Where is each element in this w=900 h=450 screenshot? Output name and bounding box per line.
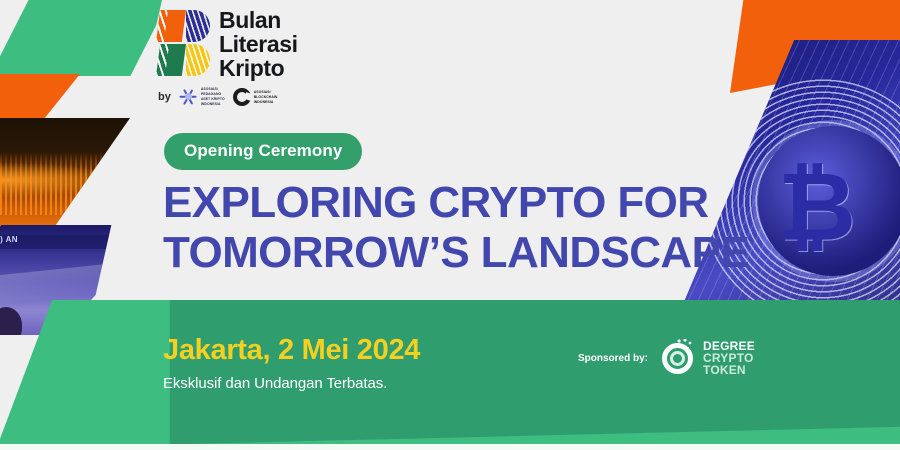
logo-stripes-yellow <box>186 44 210 76</box>
aspakrindo-line-2: PEDAGANG <box>201 92 225 96</box>
event-poster: 550 ▼ 15 (0,96%) AN ₿ <box>0 0 900 450</box>
decor-green-parallelogram-top-left <box>0 0 170 76</box>
event-note: Eksklusif dan Undangan Terbatas. <box>163 375 420 392</box>
ticker-text: 550 ▼ 15 (0,96%) AN <box>0 235 18 244</box>
aspakrindo-line-3: ASET KRIPTO <box>201 97 225 101</box>
bulan-literasi-kripto-logo-icon <box>156 8 210 80</box>
brand-logo-row: Bulan Literasi Kripto <box>156 8 298 80</box>
wordmark-line-2: Literasi <box>219 32 298 56</box>
sponsored-by-label: Sponsored by: <box>578 353 648 364</box>
opening-ceremony-badge: Opening Ceremony <box>164 133 362 170</box>
sponsor-logo-line-3: TOKEN <box>703 364 755 376</box>
degree-wordmark: DEGREE CRYPTO TOKEN <box>703 340 755 376</box>
aspakrindo-line-4: INDONESIA <box>201 102 225 106</box>
page-title: EXPLORING CRYPTO FOR TOMORROW’S LANDSCAP… <box>163 178 749 278</box>
degree-crypto-token-logo: DEGREE CRYPTO TOKEN <box>660 340 755 376</box>
ring-icon <box>233 88 251 106</box>
d-inner-ring <box>670 351 685 366</box>
degree-d-icon <box>660 340 696 376</box>
by-label: by <box>158 91 171 103</box>
chart-sparkline <box>0 153 130 215</box>
brand-logo-block: Bulan Literasi Kripto by ASOSIASI PEDAGA… <box>156 8 298 106</box>
aspakrindo-logo: ASOSIASI PEDAGANG ASET KRIPTO INDONESIA <box>179 87 225 106</box>
bitcoin-symbol-icon: ₿ <box>778 160 856 256</box>
snowflake-icon <box>179 87 198 106</box>
event-city-date: Jakarta, 2 Mei 2024 <box>163 333 420 367</box>
brand-wordmark: Bulan Literasi Kripto <box>219 8 298 80</box>
sponsor-block: Sponsored by: DEGREE CRYPTO TOKEN <box>578 340 755 376</box>
asosiasi-blockchain-indonesia-logo: ASOSIASI BLOCKCHAIN INDONESIA <box>233 88 278 106</box>
headline-line-1: EXPLORING CRYPTO FOR <box>163 178 749 228</box>
logo-stripes-blue <box>186 10 210 42</box>
decor-candlestick-chart-image <box>0 118 130 233</box>
d-dots <box>677 339 693 351</box>
aspakrindo-microtext: ASOSIASI PEDAGANG ASET KRIPTO INDONESIA <box>201 87 225 106</box>
abi-line-2: BLOCKCHAIN <box>254 95 278 99</box>
wordmark-line-1: Bulan <box>219 8 298 32</box>
abi-line-3: INDONESIA <box>254 100 278 104</box>
person-silhouette-1 <box>0 307 22 335</box>
abi-line-1: ASOSIASI <box>254 90 278 94</box>
wordmark-line-3: Kripto <box>219 56 298 80</box>
aspakrindo-line-1: ASOSIASI <box>201 87 225 91</box>
event-details: Jakarta, 2 Mei 2024 Eksklusif dan Undang… <box>163 333 420 392</box>
footer-bottom-strip <box>0 444 900 450</box>
abi-microtext: ASOSIASI BLOCKCHAIN INDONESIA <box>254 90 278 104</box>
organizers-row: by ASOSIASI PEDAGANG ASET KRIPTO INDONES… <box>158 87 298 106</box>
headline-line-2: TOMORROW’S LANDSCAPE <box>163 228 749 278</box>
